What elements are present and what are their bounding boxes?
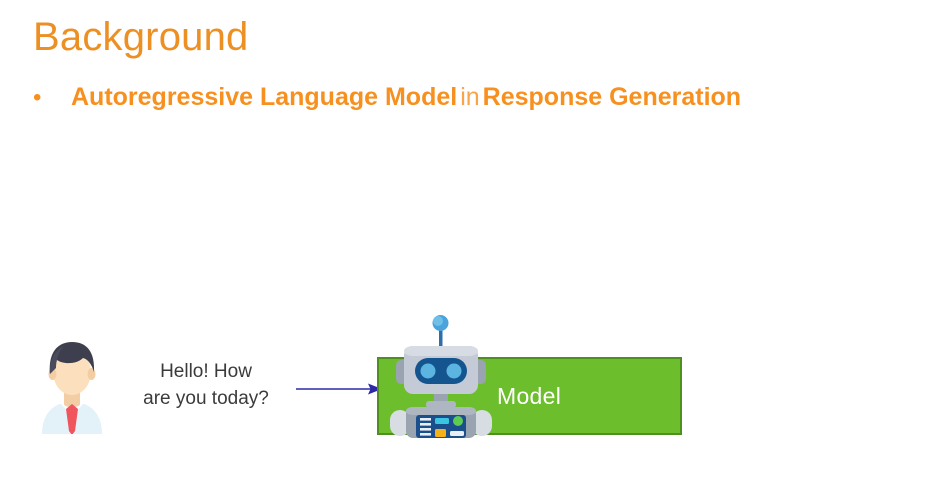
model-box-label: Model — [497, 383, 561, 410]
right-arrow-icon — [296, 378, 382, 400]
user-utterance-line-1: Hello! How — [118, 358, 294, 385]
slide-canvas: Background • Autoregressive Language Mod… — [0, 0, 944, 494]
user-utterance-text: Hello! How are you today? — [118, 358, 294, 412]
robot-icon — [390, 314, 492, 438]
user-utterance-line-2: are you today? — [118, 385, 294, 412]
response-generation-diagram: Hello! How are you today? Model — [0, 0, 944, 494]
user-avatar-icon — [36, 338, 108, 434]
